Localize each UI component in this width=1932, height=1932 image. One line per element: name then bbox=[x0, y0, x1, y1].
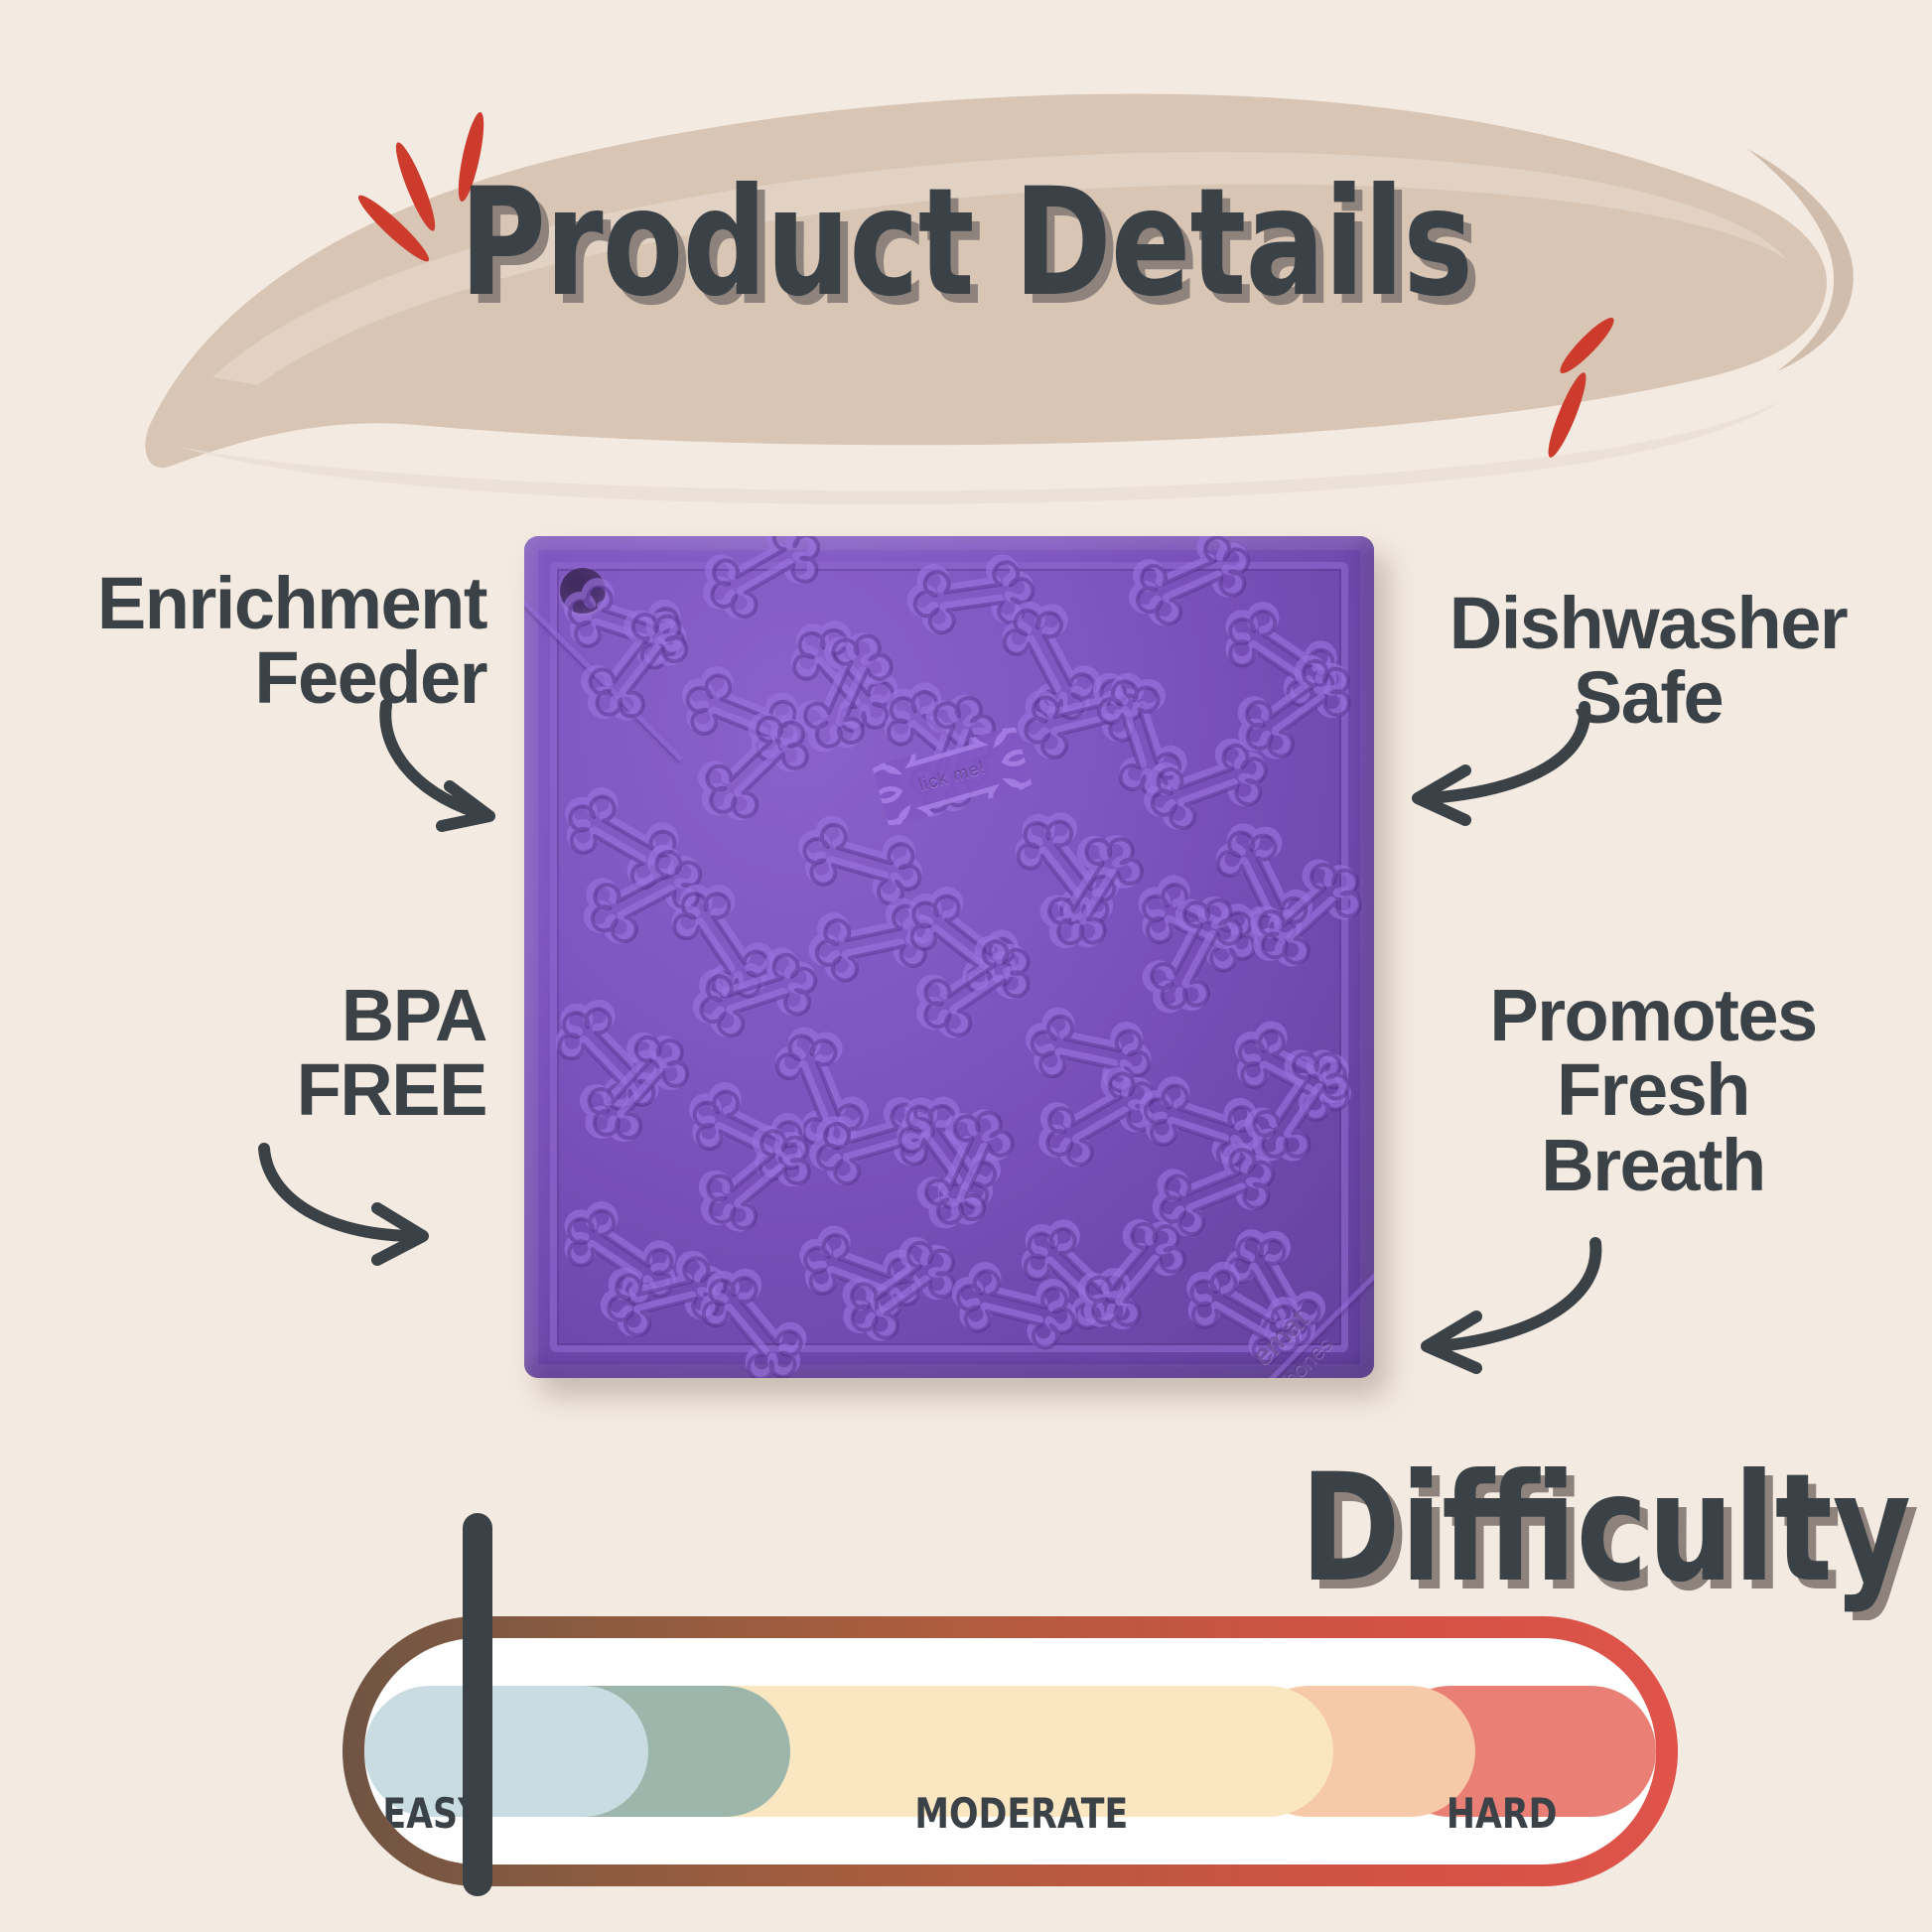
feature-line: Promotes bbox=[1415, 978, 1891, 1052]
difficulty-scale-labels: EASY MODERATE HARD bbox=[364, 1789, 1656, 1839]
bone-pattern-icon bbox=[524, 536, 1374, 1378]
product-image: lick me! emat bones bbox=[524, 536, 1384, 1390]
page-title: Product Details bbox=[116, 169, 1816, 318]
header-brush-banner: Product Details bbox=[0, 0, 1932, 516]
infographic-canvas: Product Details bbox=[0, 0, 1932, 1932]
difficulty-meter[interactable]: EASY MODERATE HARD bbox=[343, 1616, 1678, 1886]
feature-line: Breath bbox=[1415, 1128, 1891, 1202]
feature-line: BPA bbox=[129, 978, 486, 1052]
feature-line: Enrichment bbox=[20, 566, 486, 640]
difficulty-label-hard: HARD bbox=[1447, 1789, 1558, 1838]
feature-label-promotes-fresh-breath: Promotes Fresh Breath bbox=[1415, 978, 1891, 1202]
lick-mat: lick me! emat bones bbox=[524, 536, 1374, 1378]
arrow-to-product-breath-icon bbox=[1415, 1231, 1613, 1370]
difficulty-label-moderate: MODERATE bbox=[914, 1789, 1128, 1838]
difficulty-marker[interactable] bbox=[463, 1513, 492, 1896]
feature-line: Fresh bbox=[1415, 1052, 1891, 1127]
arrow-to-product-bpa-icon bbox=[238, 1137, 457, 1266]
arrow-to-product-enrichment-icon bbox=[372, 695, 561, 834]
difficulty-title: Difficulty bbox=[1152, 1454, 1911, 1603]
feature-label-bpa-free: BPA FREE bbox=[129, 978, 486, 1128]
difficulty-meter-track: EASY MODERATE HARD bbox=[364, 1638, 1656, 1864]
feature-line: FREE bbox=[129, 1052, 486, 1127]
feature-line: Dishwasher bbox=[1390, 586, 1906, 660]
arrow-to-product-dishwasher-icon bbox=[1400, 695, 1598, 824]
feature-label-enrichment-feeder: Enrichment Feeder bbox=[20, 566, 486, 716]
